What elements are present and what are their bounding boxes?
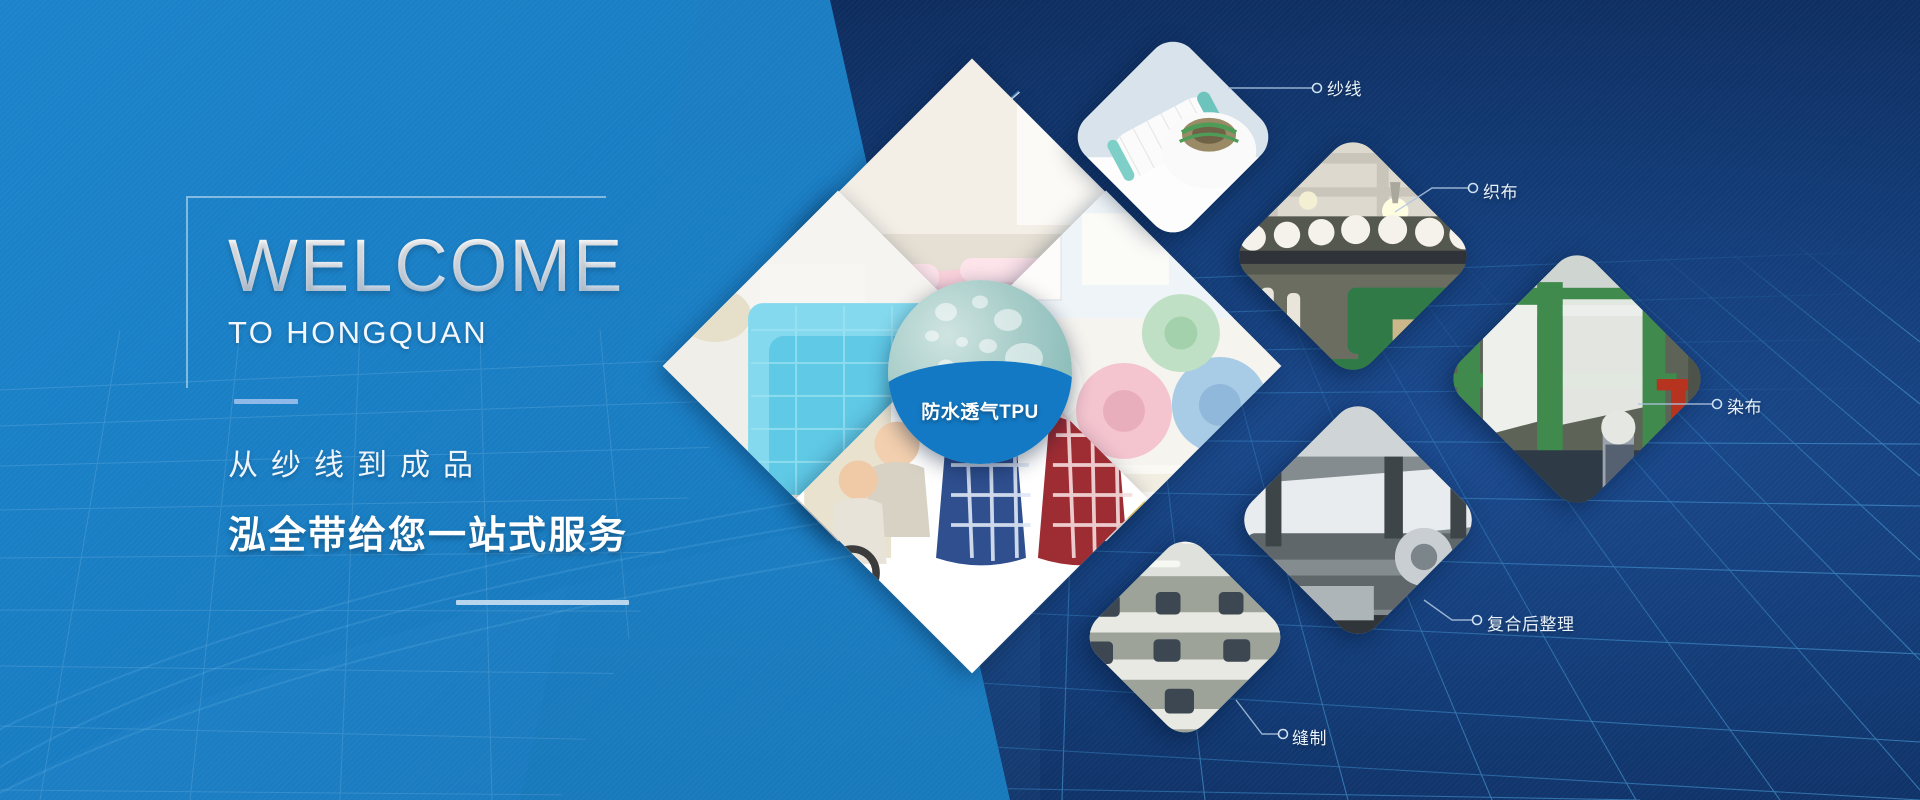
process-label-laminating: 复合后整理	[1487, 610, 1575, 635]
status-badge: 防水透气TPU	[888, 280, 1072, 464]
divider-rule	[234, 399, 298, 404]
divider-rule-lower	[456, 600, 629, 605]
process-label-dyeing: 染布	[1727, 393, 1762, 418]
headline-chinese: 泓全带给您一站式服务	[228, 504, 788, 559]
badge-label: 防水透气TPU	[888, 397, 1072, 424]
banner-root: WELCOME TO HONGQUAN 从纱线到成品 泓全带给您一站式服务	[0, 0, 1920, 800]
process-label-yarn: 纱线	[1327, 75, 1362, 100]
tagline-chinese: 从纱线到成品	[228, 440, 788, 484]
process-label-weaving: 织布	[1483, 178, 1518, 203]
process-label-sewing: 缝制	[1292, 724, 1327, 749]
decorative-bracket	[186, 196, 606, 388]
